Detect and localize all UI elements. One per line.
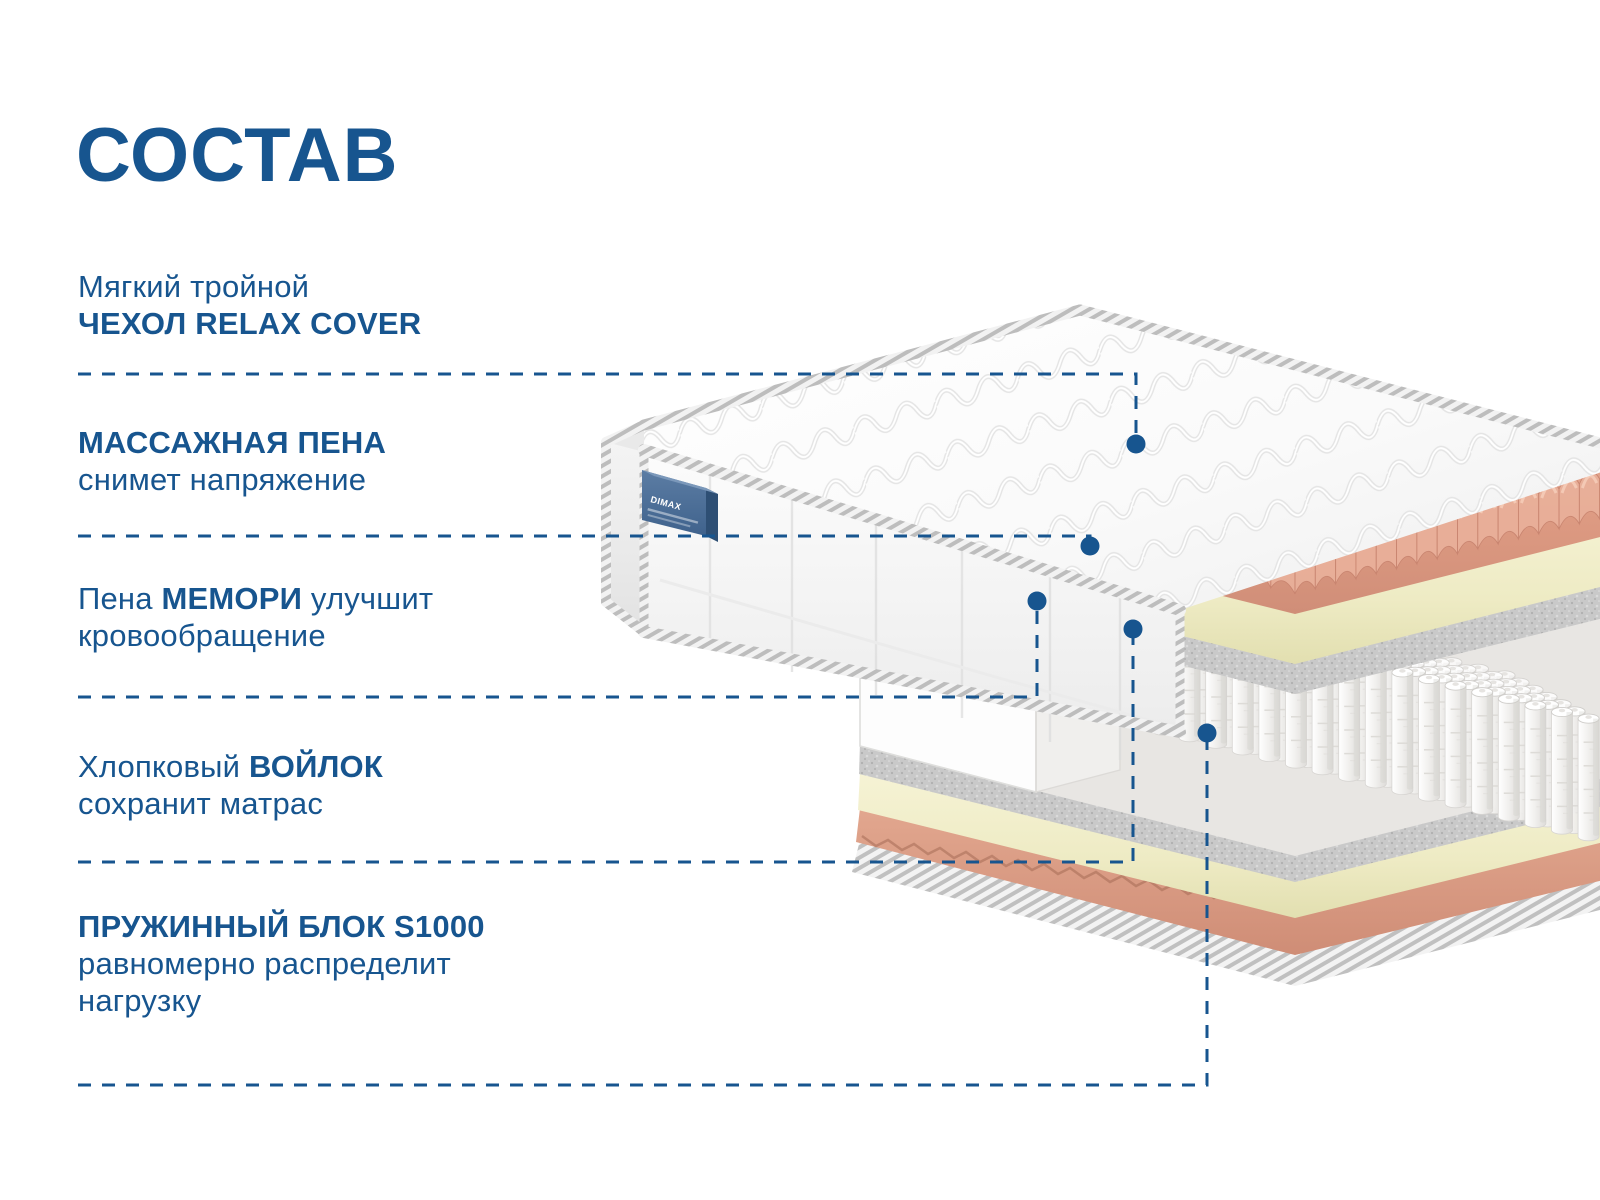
callout-dot-memory-foam [1028, 592, 1047, 611]
callout-dot-massage-foam [1081, 537, 1100, 556]
callout-spring-block-line1: ПРУЖИННЫЙ БЛОК S1000 [78, 908, 485, 945]
callout-memory-foam-line2: кровообращение [78, 617, 433, 654]
callout-relax-cover: Мягкий тройной ЧЕХОЛ RELAX COVER [78, 268, 421, 342]
callout-memory-foam-suffix: улучшит [302, 581, 433, 616]
pocket-spring [1365, 661, 1386, 788]
pocket-spring [1525, 701, 1546, 828]
pocket-spring [1472, 688, 1493, 815]
callout-cotton-felt-prefix: Хлопковый [78, 749, 249, 784]
callout-dot-spring-block [1198, 724, 1217, 743]
callout-massage-foam: МАССАЖНАЯ ПЕНА снимет напряжение [78, 424, 386, 498]
pocket-spring [1445, 681, 1466, 808]
callout-memory-foam-keyword: МЕМОРИ [162, 581, 303, 616]
pocket-spring [1419, 674, 1440, 801]
callout-dot-cotton-felt [1124, 620, 1143, 639]
callout-spring-block-line3: нагрузку [78, 982, 485, 1019]
pocket-spring [1552, 707, 1573, 834]
mattress-illustration: DIMAX [560, 280, 1600, 1110]
callout-relax-cover-line2: ЧЕХОЛ RELAX COVER [78, 305, 421, 342]
callout-spring-block: ПРУЖИННЫЙ БЛОК S1000 равномерно распреде… [78, 908, 485, 1019]
pocket-spring [1392, 668, 1413, 795]
callout-memory-foam: Пена МЕМОРИ улучшит кровообращение [78, 580, 433, 654]
pocket-spring [1578, 714, 1599, 841]
callout-cotton-felt-line1: Хлопковый ВОЙЛОК [78, 748, 383, 785]
callout-cotton-felt-line2: сохранит матрас [78, 785, 383, 822]
page-title: СОСТАВ [76, 118, 399, 194]
callout-dot-relax-cover [1127, 435, 1146, 454]
callout-relax-cover-line1: Мягкий тройной [78, 268, 421, 305]
callout-spring-block-line2: равномерно распределит [78, 945, 485, 982]
callout-memory-foam-prefix: Пена [78, 581, 162, 616]
callout-memory-foam-line1: Пена МЕМОРИ улучшит [78, 580, 433, 617]
pocket-spring [1498, 694, 1519, 821]
callout-cotton-felt-keyword: ВОЙЛОК [249, 749, 383, 784]
callout-cotton-felt: Хлопковый ВОЙЛОК сохранит матрас [78, 748, 383, 822]
callout-massage-foam-line1: МАССАЖНАЯ ПЕНА [78, 424, 386, 461]
callout-massage-foam-line2: снимет напряжение [78, 461, 386, 498]
